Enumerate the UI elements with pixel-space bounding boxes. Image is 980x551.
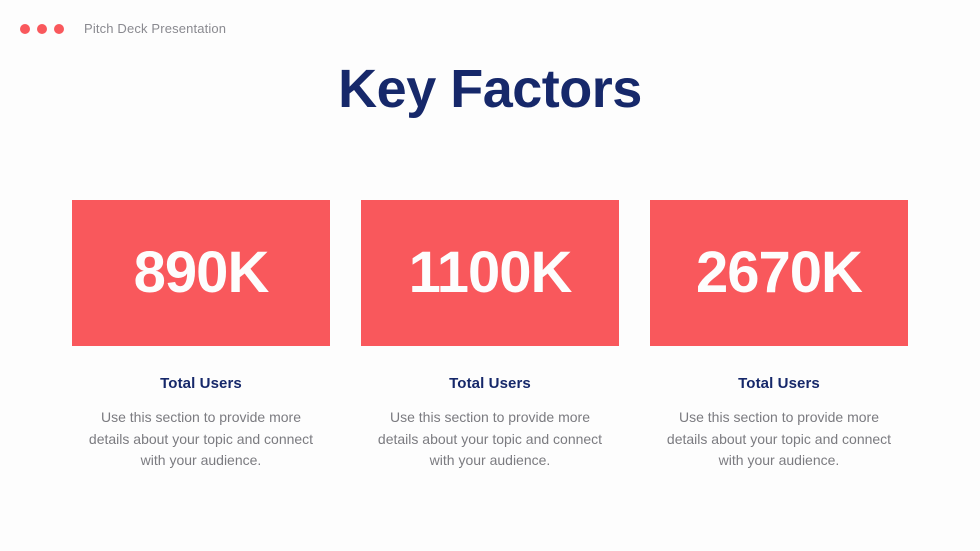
stat-description-1: Use this section to provide more details…	[85, 407, 317, 472]
stat-description-2: Use this section to provide more details…	[374, 407, 606, 472]
stat-column-2: 1100K Total Users Use this section to pr…	[361, 200, 619, 472]
window-dot-2-icon	[37, 24, 47, 34]
stat-value-2: 1100K	[409, 243, 572, 303]
stat-card-3: 2670K	[650, 200, 908, 346]
stat-column-3: 2670K Total Users Use this section to pr…	[650, 200, 908, 472]
window-dot-1-icon	[20, 24, 30, 34]
slide-topbar: Pitch Deck Presentation	[20, 20, 226, 38]
stat-column-1: 890K Total Users Use this section to pro…	[72, 200, 330, 472]
stat-label-1: Total Users	[160, 374, 242, 394]
stat-card-2: 1100K	[361, 200, 619, 346]
window-dot-3-icon	[54, 24, 64, 34]
page-title: Key Factors	[0, 56, 980, 122]
stat-card-1: 890K	[72, 200, 330, 346]
stat-value-1: 890K	[134, 243, 269, 303]
stat-value-3: 2670K	[696, 243, 862, 303]
stats-row: 890K Total Users Use this section to pro…	[72, 200, 908, 472]
stat-label-2: Total Users	[449, 374, 531, 394]
deck-title: Pitch Deck Presentation	[84, 20, 226, 38]
stat-description-3: Use this section to provide more details…	[663, 407, 895, 472]
stat-label-3: Total Users	[738, 374, 820, 394]
window-dots	[20, 24, 64, 34]
presentation-slide: Pitch Deck Presentation Key Factors 890K…	[0, 0, 980, 551]
